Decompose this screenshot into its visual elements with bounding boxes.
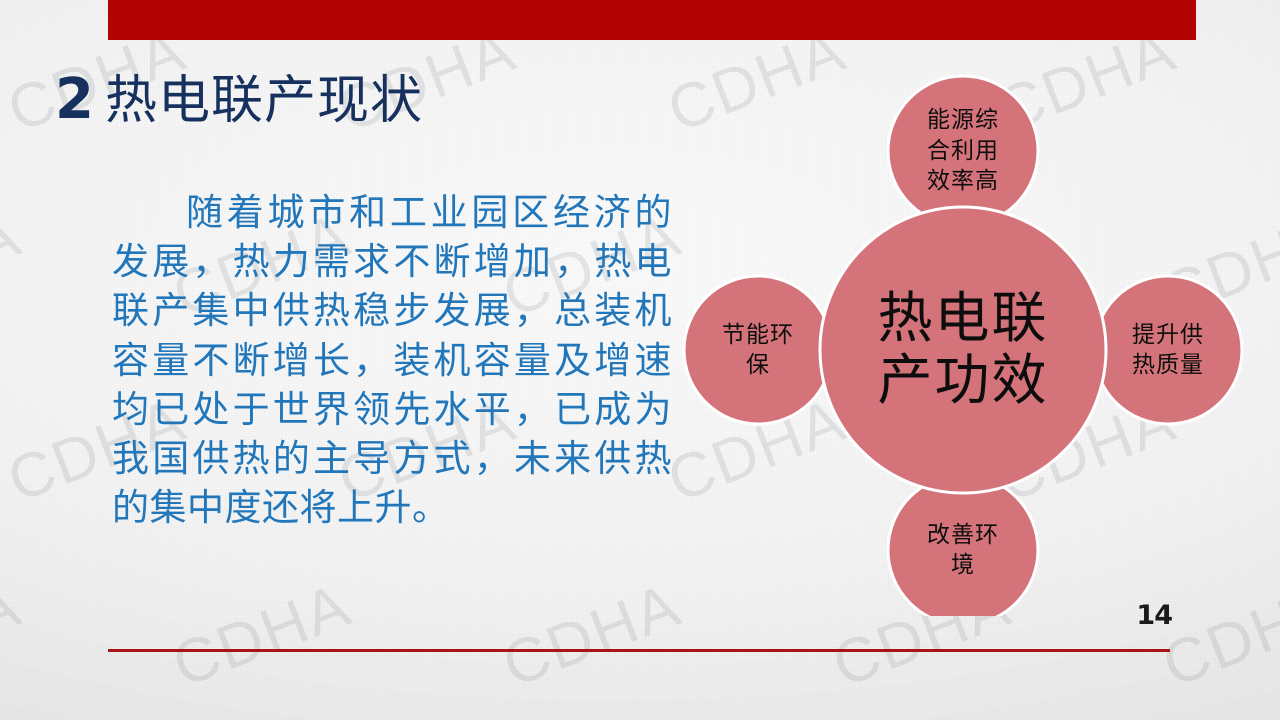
radial-venn-diagram: 热电联产功效 能源综合利用效率高 提升供热质量 改善环境 节能环保 <box>668 56 1268 616</box>
page-number: 14 <box>1136 600 1172 631</box>
title-heading-text: 热电联产现状 <box>105 75 423 127</box>
body-paragraph: 随着城市和工业园区经济的发展，热力需求不断增加，热电联产集中供热稳步发展，总装机… <box>112 188 672 532</box>
page-title: 2 热电联产现状 <box>55 72 423 128</box>
center-circle <box>820 207 1106 493</box>
top-red-banner <box>108 0 1196 40</box>
slide-canvas: CDHACDHACDHACDHACDHACDHACDHACDHACDHACDHA… <box>0 0 1280 720</box>
footer-rule <box>108 649 1170 652</box>
title-number: 2 <box>55 72 93 128</box>
